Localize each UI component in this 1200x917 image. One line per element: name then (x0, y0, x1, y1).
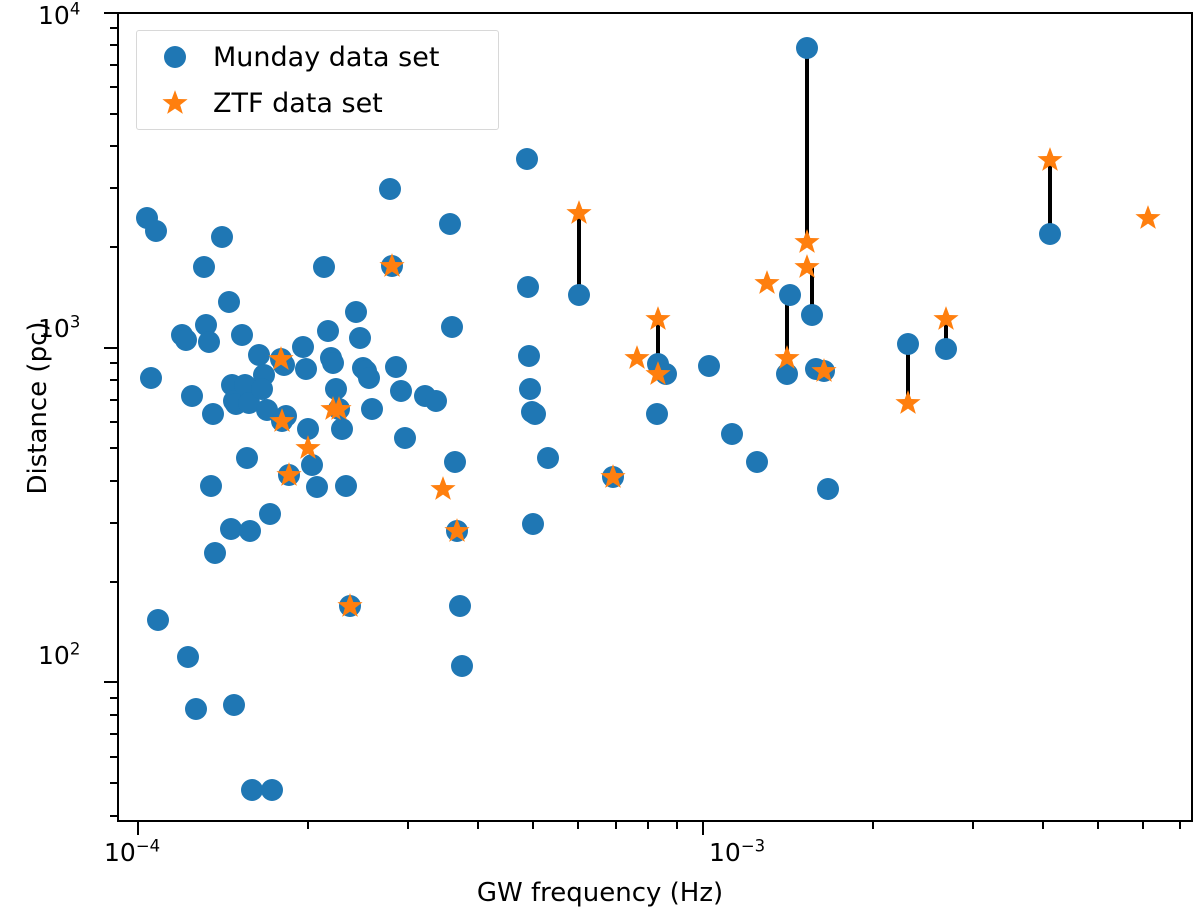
y-minor-tick (110, 399, 117, 401)
data-point-circle (817, 478, 839, 500)
data-point-circle (200, 475, 222, 497)
x-minor-tick (477, 822, 479, 829)
x-minor-tick (615, 822, 617, 829)
x-minor-tick (307, 822, 309, 829)
data-point-circle (322, 352, 344, 374)
y-minor-tick (110, 44, 117, 46)
data-point-star (644, 305, 672, 333)
x-tick-label-1e-3: 10−3 (709, 838, 765, 867)
y-minor-tick (110, 522, 117, 524)
data-point-star (599, 463, 627, 491)
y-minor-tick (110, 113, 117, 115)
x-major-tick (702, 822, 704, 835)
y-minor-tick (110, 581, 117, 583)
data-point-circle (522, 513, 544, 535)
data-point-circle (241, 779, 263, 801)
data-point-circle (181, 385, 203, 407)
data-point-circle (721, 423, 743, 445)
y-minor-tick (110, 362, 117, 364)
x-minor-tick (676, 822, 678, 829)
x-minor-tick (577, 822, 579, 829)
data-point-star (932, 305, 960, 333)
y-minor-tick (110, 379, 117, 381)
data-point-star (1036, 146, 1064, 174)
data-point-star (294, 434, 322, 462)
data-point-circle (204, 542, 226, 564)
x-major-tick (137, 822, 139, 835)
y-minor-tick (110, 447, 117, 449)
munday-marker-icon (137, 46, 213, 68)
data-point-circle (292, 336, 314, 358)
y-minor-tick (110, 714, 117, 716)
data-point-circle (361, 398, 383, 420)
data-point-circle (385, 356, 407, 378)
data-point-circle (698, 355, 720, 377)
y-tick-label-1e4: 104 (38, 1, 80, 30)
data-point-circle (568, 284, 590, 306)
data-point-circle (779, 284, 801, 306)
data-point-circle (444, 451, 466, 473)
data-point-circle (379, 178, 401, 200)
y-axis-label-wrap: Distance (pc) (23, 198, 53, 618)
data-point-circle (140, 367, 162, 389)
data-point-circle (193, 256, 215, 278)
data-point-circle (306, 476, 328, 498)
data-point-circle (394, 427, 416, 449)
data-point-circle (746, 451, 768, 473)
y-minor-tick (110, 733, 117, 735)
data-point-star (810, 357, 838, 385)
data-point-circle (175, 329, 197, 351)
plot-area: Munday data set ZTF data set (117, 12, 1193, 822)
y-minor-tick (110, 697, 117, 699)
data-point-circle (259, 503, 281, 525)
x-minor-tick (532, 822, 534, 829)
data-point-star (336, 592, 364, 620)
data-point-circle (317, 320, 339, 342)
data-point-circle (349, 327, 371, 349)
data-point-circle (518, 345, 540, 367)
data-point-star (429, 475, 457, 503)
data-point-circle (441, 316, 463, 338)
data-point-circle (198, 331, 220, 353)
data-point-star (378, 252, 406, 280)
data-point-circle (147, 609, 169, 631)
legend-label-ztf: ZTF data set (213, 88, 383, 119)
data-point-circle (236, 447, 258, 469)
x-minor-tick (407, 822, 409, 829)
ztf-marker-icon (137, 89, 213, 117)
figure: Munday data set ZTF data set 104 103 102… (0, 0, 1200, 917)
legend-entry-munday: Munday data set (137, 35, 498, 79)
data-point-star (894, 389, 922, 417)
data-point-star (644, 360, 672, 388)
data-point-circle (1039, 223, 1061, 245)
data-point-star (443, 517, 471, 545)
y-minor-tick (110, 64, 117, 66)
data-point-circle (145, 220, 167, 242)
data-point-circle (211, 226, 233, 248)
legend-entry-ztf: ZTF data set (137, 81, 498, 125)
data-point-star (793, 253, 821, 281)
data-point-circle (524, 403, 546, 425)
data-point-star (267, 345, 295, 373)
y-major-tick (104, 681, 117, 683)
y-tick-label-1e2: 102 (38, 641, 80, 670)
data-point-circle (358, 367, 380, 389)
x-minor-tick (1179, 822, 1181, 829)
data-point-circle (261, 779, 283, 801)
data-point-circle (239, 520, 261, 542)
data-point-circle (345, 301, 367, 323)
y-minor-tick (110, 756, 117, 758)
y-minor-tick (110, 27, 117, 29)
data-point-circle (177, 646, 199, 668)
y-minor-tick (110, 421, 117, 423)
x-minor-tick (872, 822, 874, 829)
data-point-circle (646, 403, 668, 425)
legend-label-munday: Munday data set (213, 42, 439, 73)
data-point-circle (517, 276, 539, 298)
data-point-star (565, 199, 593, 227)
legend: Munday data set ZTF data set (136, 30, 499, 130)
data-point-circle (335, 475, 357, 497)
data-point-circle (801, 304, 823, 326)
y-axis-label: Distance (pc) (23, 321, 53, 494)
data-point-circle (390, 380, 412, 402)
data-point-star (753, 269, 781, 297)
data-point-circle (251, 378, 273, 400)
x-minor-tick (1097, 822, 1099, 829)
error-connector-line (805, 48, 809, 242)
data-point-circle (202, 403, 224, 425)
data-point-circle (185, 698, 207, 720)
data-point-circle (223, 694, 245, 716)
x-axis-label: GW frequency (Hz) (0, 878, 1200, 908)
data-point-circle (796, 37, 818, 59)
y-major-tick (104, 12, 117, 14)
data-point-circle (519, 378, 541, 400)
x-tick-label-1e-4: 10−4 (104, 838, 160, 867)
y-minor-tick (110, 246, 117, 248)
data-point-star (773, 344, 801, 372)
y-minor-tick (110, 815, 117, 817)
y-minor-tick (110, 480, 117, 482)
y-minor-tick (110, 187, 117, 189)
y-major-tick (104, 347, 117, 349)
data-point-circle (439, 213, 461, 235)
data-point-circle (425, 390, 447, 412)
data-point-circle (897, 333, 919, 355)
data-point-circle (449, 595, 471, 617)
y-minor-tick (110, 782, 117, 784)
x-minor-tick (1042, 822, 1044, 829)
x-minor-tick (647, 822, 649, 829)
data-point-circle (537, 447, 559, 469)
data-point-circle (451, 655, 473, 677)
data-point-star (268, 407, 296, 435)
x-minor-tick (1142, 822, 1144, 829)
data-point-circle (516, 148, 538, 170)
data-point-circle (231, 324, 253, 346)
data-point-circle (313, 256, 335, 278)
y-minor-tick (110, 145, 117, 147)
x-minor-tick (972, 822, 974, 829)
data-point-circle (218, 291, 240, 313)
data-point-star (325, 395, 353, 423)
data-point-star (275, 461, 303, 489)
data-point-star (1134, 204, 1162, 232)
y-minor-tick (110, 86, 117, 88)
data-point-circle (295, 358, 317, 380)
data-point-circle (935, 338, 957, 360)
